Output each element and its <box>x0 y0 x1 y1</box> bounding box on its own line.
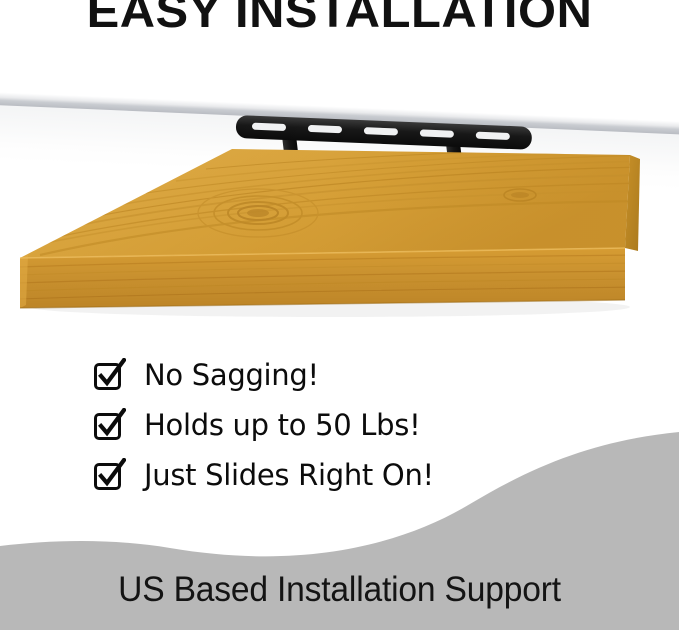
support-banner-label: US Based Installation Support <box>14 570 666 610</box>
checkbox-checked-icon <box>92 358 126 392</box>
product-photo <box>0 55 679 340</box>
list-item-label: No Sagging! <box>144 359 319 391</box>
wood-shelf-icon <box>0 55 679 340</box>
list-item: No Sagging! <box>92 350 512 400</box>
page-title: EASY INSTALLATION <box>0 0 679 35</box>
marketing-image: EASY INSTALLATION <box>0 0 679 630</box>
